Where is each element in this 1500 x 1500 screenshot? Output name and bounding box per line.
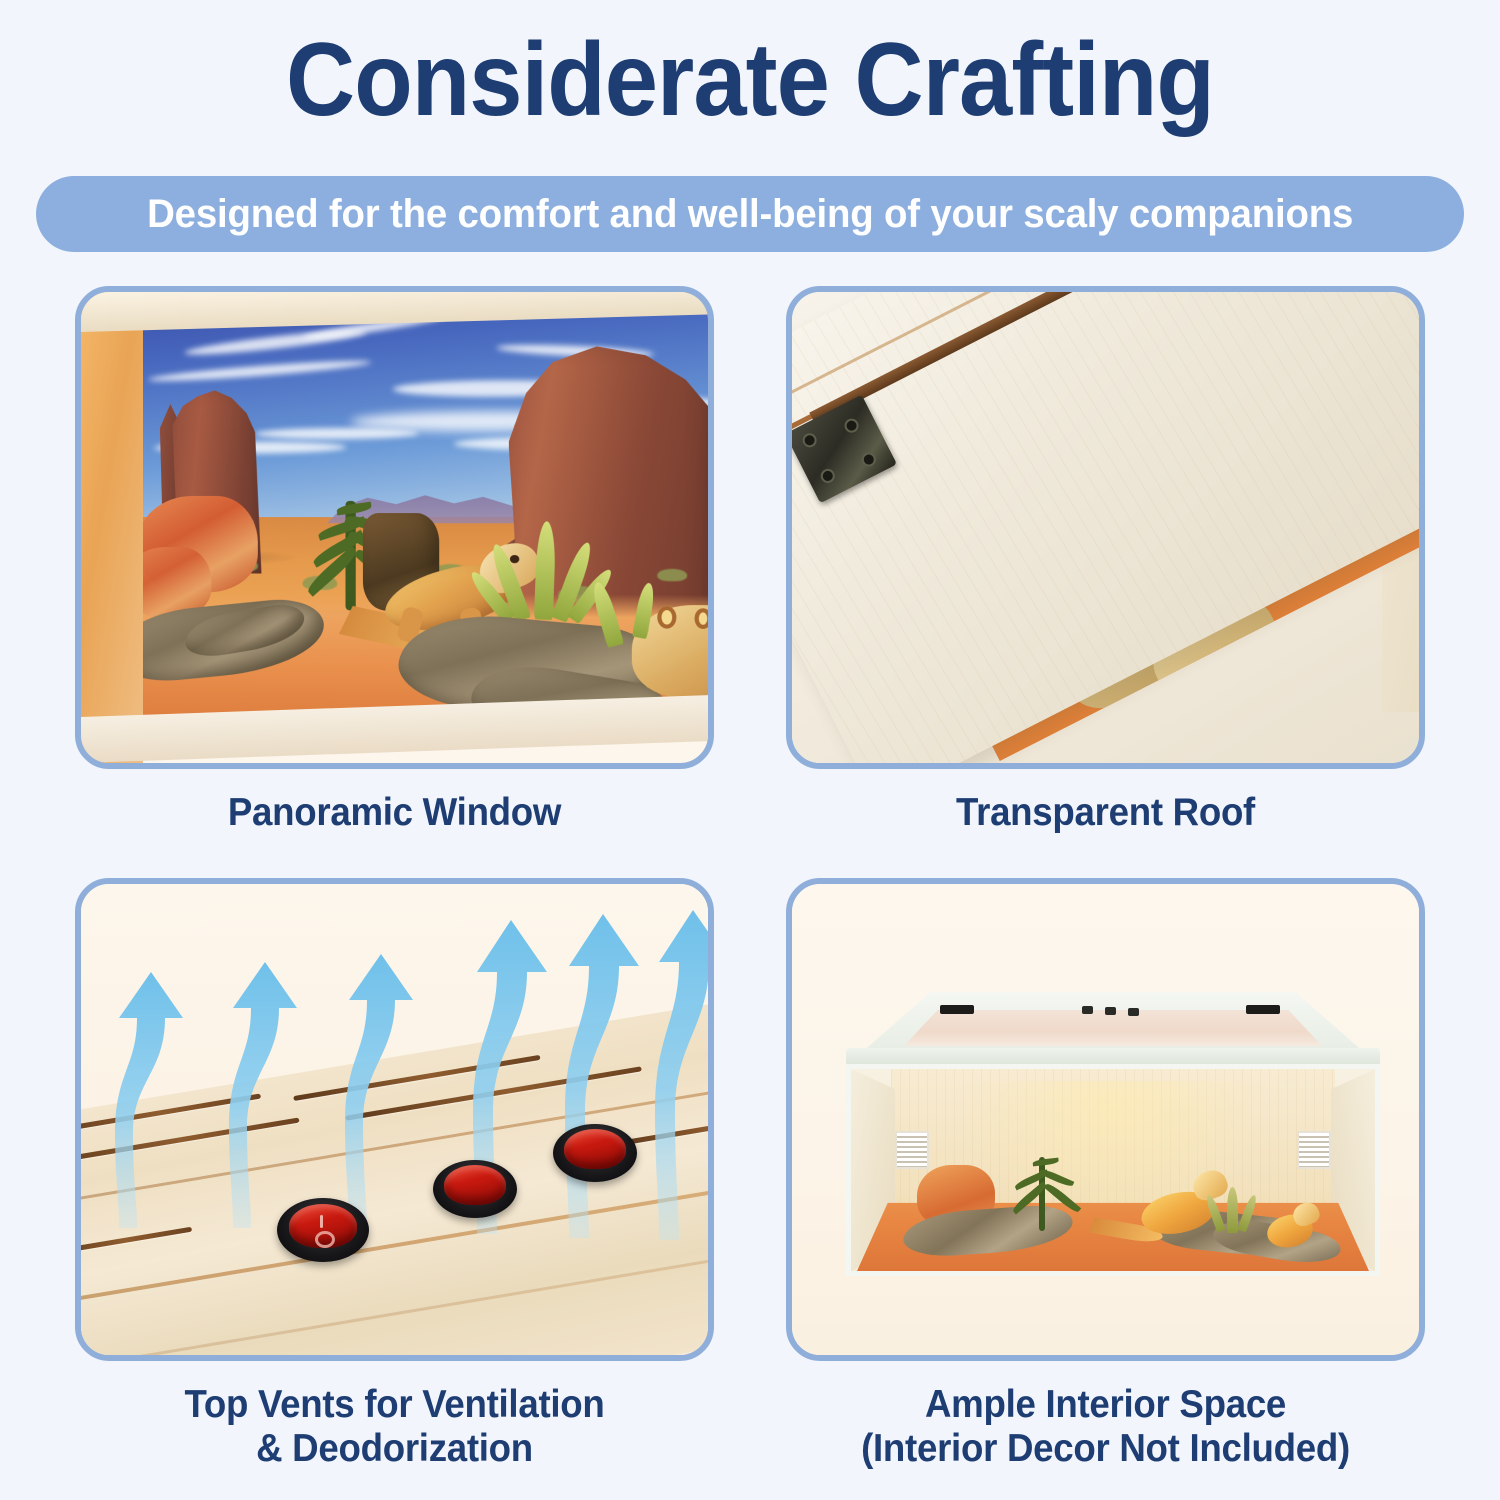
airflow-arrow-icon <box>217 922 313 1232</box>
fern-plant <box>999 1151 1085 1231</box>
reptile-enclosure <box>822 992 1402 1292</box>
photo-transparent-roof <box>786 286 1425 769</box>
lid-button-icon <box>1128 1008 1139 1016</box>
power-switch-middle[interactable] <box>433 1160 517 1218</box>
photo-top-vents <box>75 878 714 1361</box>
infographic-page: Considerate Crafting Designed for the co… <box>0 0 1500 1500</box>
photo-ample-interior <box>786 878 1425 1361</box>
power-switch-right[interactable] <box>553 1124 637 1182</box>
lid-vent-icon <box>940 1005 974 1014</box>
side-vent-grill-icon <box>895 1131 929 1169</box>
side-vent-grill-icon <box>1297 1131 1331 1169</box>
subtitle-banner: Designed for the comfort and well-being … <box>36 176 1464 252</box>
lid-button-icon <box>1082 1006 1093 1014</box>
airflow-arrow-icon <box>103 932 199 1232</box>
photo-panoramic-window <box>75 286 714 769</box>
feature-cell-transparent-roof: Transparent Roof <box>786 286 1425 835</box>
caption-top-vents: Top Vents for Ventilation & Deodorizatio… <box>94 1383 695 1470</box>
desert-scene <box>125 293 708 725</box>
subtitle-text: Designed for the comfort and well-being … <box>147 192 1353 237</box>
enclosure-wood-frame-left <box>81 292 143 763</box>
caption-panoramic-window: Panoramic Window <box>94 791 695 835</box>
enclosure-body <box>846 1064 1380 1276</box>
lid-glass-panel <box>904 1010 1322 1046</box>
airflow-arrow-icon <box>641 884 708 1244</box>
power-switch-left[interactable] <box>277 1198 369 1262</box>
feature-cell-panoramic-window: Panoramic Window <box>75 286 714 835</box>
feature-grid: Panoramic Window <box>0 286 1500 1500</box>
caption-ample-interior: Ample Interior Space (Interior Decor Not… <box>805 1383 1406 1470</box>
feature-cell-top-vents: Top Vents for Ventilation & Deodorizatio… <box>75 878 714 1470</box>
aloe-plant <box>496 507 590 620</box>
airflow-arrow-icon <box>551 884 655 1242</box>
page-title: Considerate Crafting <box>60 26 1440 135</box>
lid-button-icon <box>1105 1007 1116 1015</box>
caption-transparent-roof: Transparent Roof <box>805 791 1406 835</box>
feature-cell-ample-interior: Ample Interior Space (Interior Decor Not… <box>786 878 1425 1470</box>
airflow-arrow-icon <box>333 914 429 1234</box>
lid-vent-icon <box>1246 1005 1280 1014</box>
